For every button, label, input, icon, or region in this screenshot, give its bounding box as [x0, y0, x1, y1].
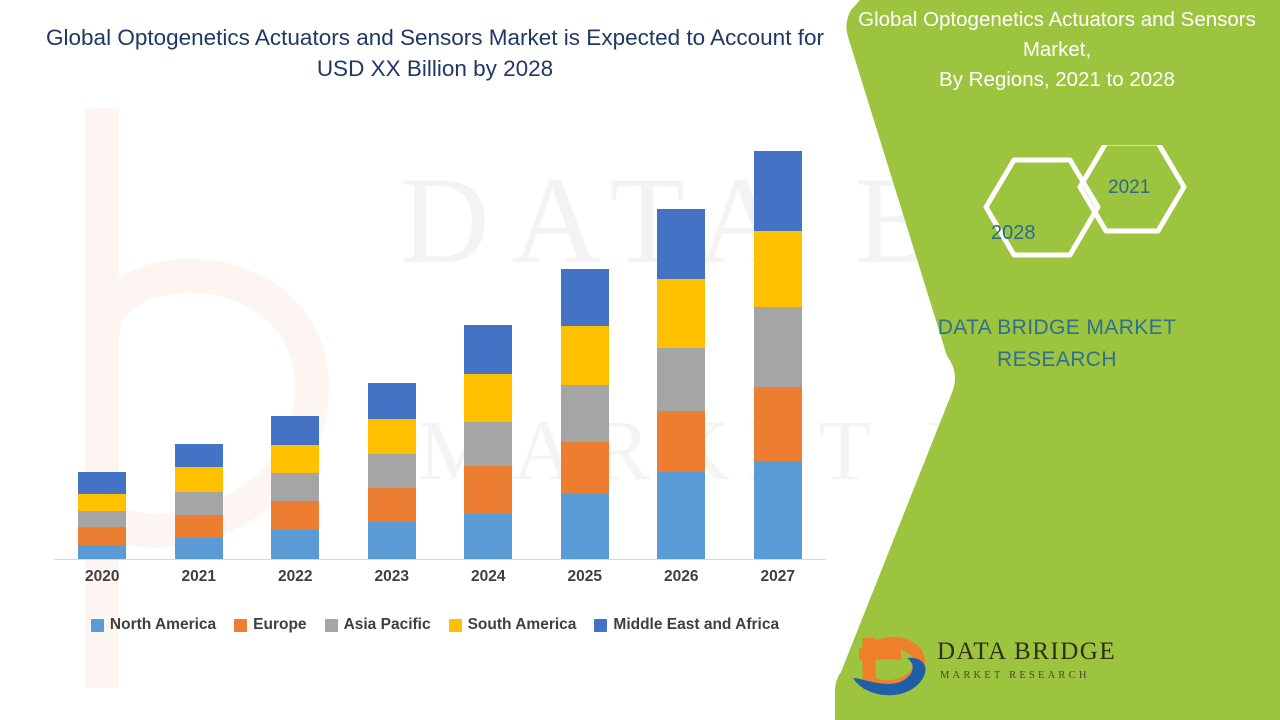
bar-segment[interactable]	[754, 387, 802, 462]
bar-segment[interactable]	[368, 383, 416, 418]
legend-swatch-icon	[325, 619, 338, 632]
bar-segment[interactable]	[78, 472, 126, 494]
bar-column	[537, 120, 634, 559]
bar-segment[interactable]	[657, 209, 705, 279]
bar-segment[interactable]	[657, 472, 705, 559]
bar-stack[interactable]	[78, 472, 126, 559]
bar-column	[247, 120, 344, 559]
bar-column	[730, 120, 827, 559]
bar-segment[interactable]	[561, 326, 609, 384]
bar-segment[interactable]	[271, 530, 319, 559]
bar-segment[interactable]	[561, 442, 609, 495]
legend-item[interactable]: Asia Pacific	[325, 616, 431, 634]
bar-segment[interactable]	[78, 494, 126, 510]
bar-segment[interactable]	[464, 325, 512, 373]
bar-segment[interactable]	[368, 488, 416, 522]
bar-segment[interactable]	[175, 467, 223, 492]
bar-segment[interactable]	[78, 527, 126, 545]
bar-segment[interactable]	[368, 419, 416, 454]
bar-segment[interactable]	[561, 269, 609, 326]
bar-segment[interactable]	[78, 511, 126, 527]
legend-item[interactable]: Middle East and Africa	[594, 616, 779, 634]
bar-segment[interactable]	[175, 492, 223, 515]
bar-segment[interactable]	[464, 514, 512, 559]
bar-segment[interactable]	[271, 445, 319, 474]
bar-segment[interactable]	[464, 422, 512, 466]
company-logo: DATA BRIDGE MARKET RESEARCH	[845, 628, 1085, 710]
bar-segment[interactable]	[657, 348, 705, 411]
legend-item[interactable]: North America	[91, 616, 216, 634]
legend-label: North America	[110, 616, 216, 634]
bar-stack[interactable]	[368, 383, 416, 559]
bar-segment[interactable]	[754, 307, 802, 387]
bar-segment[interactable]	[78, 545, 126, 559]
brand-name-line-1: DATA BRIDGE MARKET	[855, 312, 1259, 343]
chart-plot-area	[54, 120, 826, 560]
bar-stack[interactable]	[754, 151, 802, 559]
x-axis-tick-label: 2024	[440, 568, 537, 586]
logo-wordmark: DATA BRIDGE	[937, 638, 1116, 666]
bar-stack[interactable]	[657, 209, 705, 559]
bar-segment[interactable]	[754, 461, 802, 559]
legend-label: Europe	[253, 616, 306, 634]
bar-stack[interactable]	[561, 269, 609, 559]
bar-column	[54, 120, 151, 559]
bar-stack[interactable]	[271, 416, 319, 559]
hexagon-label-2021: 2021	[1108, 177, 1150, 199]
bar-segment[interactable]	[561, 385, 609, 442]
bar-series-container	[54, 120, 826, 559]
hexagon-outlines-icon	[940, 145, 1260, 290]
chart-legend: North AmericaEuropeAsia PacificSouth Ame…	[40, 616, 830, 634]
bar-segment[interactable]	[175, 444, 223, 467]
bar-segment[interactable]	[464, 374, 512, 422]
bar-column	[633, 120, 730, 559]
x-axis-tick-label: 2027	[730, 568, 827, 586]
legend-item[interactable]: South America	[449, 616, 577, 634]
bar-segment[interactable]	[175, 538, 223, 559]
infographic-slide: DATA BRIDGE MARKET RESEARCH Global Optog…	[0, 0, 1280, 720]
legend-swatch-icon	[234, 619, 247, 632]
legend-label: South America	[468, 616, 577, 634]
bar-column	[344, 120, 441, 559]
bar-segment[interactable]	[754, 231, 802, 307]
legend-swatch-icon	[594, 619, 607, 632]
legend-label: Asia Pacific	[344, 616, 431, 634]
legend-item[interactable]: Europe	[234, 616, 306, 634]
bar-segment[interactable]	[368, 522, 416, 559]
x-axis-labels: 20202021202220232024202520262027	[54, 568, 826, 586]
x-axis-tick-label: 2026	[633, 568, 730, 586]
x-axis-tick-label: 2020	[54, 568, 151, 586]
bar-stack[interactable]	[464, 325, 512, 559]
chart-title: Global Optogenetics Actuators and Sensor…	[40, 22, 830, 84]
x-axis-tick-label: 2022	[247, 568, 344, 586]
hexagon-label-2028: 2028	[991, 222, 1036, 245]
brand-name-line-2: RESEARCH	[855, 344, 1259, 375]
bar-segment[interactable]	[657, 411, 705, 472]
hexagon-badge-group: 2021 2028	[940, 145, 1260, 290]
bar-segment[interactable]	[754, 151, 802, 231]
legend-label: Middle East and Africa	[613, 616, 779, 634]
bar-segment[interactable]	[175, 515, 223, 538]
logo-subwordmark: MARKET RESEARCH	[940, 670, 1090, 681]
bar-segment[interactable]	[271, 501, 319, 531]
chart-panel: Global Optogenetics Actuators and Sensor…	[0, 0, 880, 720]
panel-title: Global Optogenetics Actuators and Sensor…	[857, 5, 1257, 95]
bar-column	[151, 120, 248, 559]
x-axis-tick-label: 2021	[151, 568, 248, 586]
bar-segment[interactable]	[464, 466, 512, 514]
branding-panel: Global Optogenetics Actuators and Sensor…	[835, 0, 1280, 720]
bar-segment[interactable]	[368, 454, 416, 488]
x-axis-line	[54, 559, 826, 560]
bar-segment[interactable]	[271, 473, 319, 500]
bar-segment[interactable]	[561, 494, 609, 559]
bar-column	[440, 120, 537, 559]
bar-segment[interactable]	[271, 416, 319, 445]
bar-segment[interactable]	[657, 279, 705, 348]
legend-swatch-icon	[449, 619, 462, 632]
bar-stack[interactable]	[175, 444, 223, 559]
x-axis-tick-label: 2025	[537, 568, 634, 586]
x-axis-tick-label: 2023	[344, 568, 441, 586]
legend-swatch-icon	[91, 619, 104, 632]
